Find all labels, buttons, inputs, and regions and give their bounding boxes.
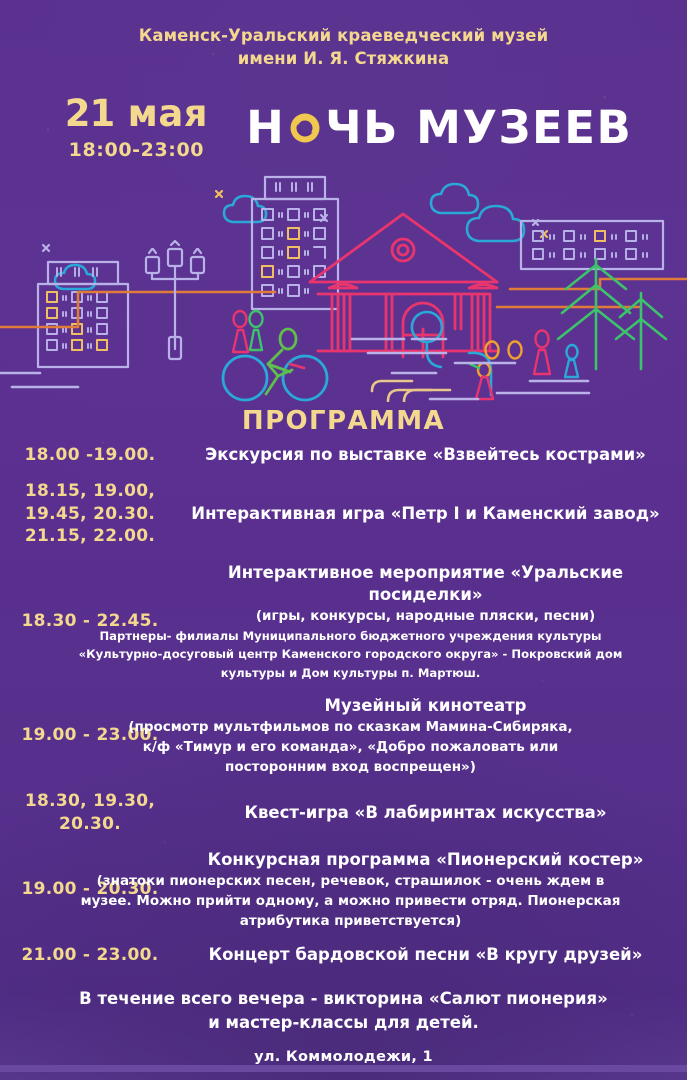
schedule-subtitle: атрибутика приветствуется) <box>24 912 677 931</box>
schedule-description: Интерактивное мероприятие «Уральские пос… <box>174 562 677 682</box>
city-illustration <box>0 167 687 402</box>
schedule-row: 18.15, 19.00, 19.45, 20.30. 21.15, 22.00… <box>0 480 687 547</box>
schedule-fineprint: культуры и Дом культуры п. Мартюш. <box>24 665 677 681</box>
schedule-fineprint: Партнеры- филиалы Муниципального бюджетн… <box>24 628 677 644</box>
schedule-row: 18.00 -19.00. Экскурсия по выставке «Взв… <box>0 444 687 466</box>
people-pair-right <box>534 330 578 377</box>
schedule-fineprint: «Культурно-досуговый центр Каменского го… <box>24 646 677 662</box>
schedule-subtitle: (просмотр мультфильмов по сказкам Мамина… <box>24 718 677 737</box>
schedule-description: Квест-игра «В лабиринтах искусства» <box>174 802 677 824</box>
schedule-description: Интерактивная игра «Петр I и Каменский з… <box>174 503 677 525</box>
schedule-title: Интерактивное мероприятие «Уральские пос… <box>228 563 623 604</box>
venue-address: ул. Коммолодежи, 1 <box>26 1049 661 1065</box>
poster: Каменск-Уральский краеведческий музей им… <box>0 0 687 1080</box>
schedule-title: Музейный кинотеатр <box>325 696 527 715</box>
poster-footer: В течение всего вечера - викторина «Салю… <box>0 987 687 1066</box>
schedule-row: 19.00 - 20.30. Конкурсная программа «Пио… <box>0 849 687 930</box>
schedule-title: Конкурсная программа «Пионерский костер» <box>208 850 644 869</box>
schedule-title: Квест-игра «В лабиринтах искусства» <box>245 803 607 822</box>
schedule-time: 18.00 -19.00. <box>6 444 174 466</box>
event-time-range: 18:00-23:00 <box>65 139 208 161</box>
schedule-time: 21.00 - 23.00. <box>6 944 174 966</box>
footer-line-2: и мастер-классы для детей. <box>26 1011 661 1036</box>
footer-line-1: В течение всего вечера - викторина «Салю… <box>26 987 661 1012</box>
schedule-description: Экскурсия по выставке «Взвейтесь кострам… <box>174 444 677 466</box>
bottom-strip <box>0 1065 687 1072</box>
museum-name: Каменск-Уральский краеведческий музей им… <box>0 0 687 71</box>
tower-building <box>252 177 338 309</box>
schedule-subtitle: посторонним вход воспрещен») <box>24 758 677 777</box>
building-right <box>521 221 663 269</box>
schedule-subtitle: (знатоки пионерских песен, речевок, стра… <box>24 872 677 891</box>
schedule-title: Интерактивная игра «Петр I и Каменский з… <box>191 504 659 523</box>
schedule-subtitle: музее. Можно прийти одному, а можно прив… <box>24 892 677 911</box>
schedule-time: 18.30, 19.30, 20.30. <box>6 790 174 835</box>
schedule-subtitle: (игры, конкурсы, народные пляски, песни) <box>174 607 677 626</box>
crescent-moon-icon <box>288 111 322 145</box>
title-bar: 21 мая 18:00-23:00 Н ЧЬ МУЗЕЕВ <box>0 95 687 161</box>
schedule-description: Музейный кинотеатр (просмотр мультфильмо… <box>174 695 677 776</box>
schedule-row: 19.00 - 23.00. Музейный кинотеатр (просм… <box>0 695 687 776</box>
schedule-description: Концерт бардовской песни «В кругу друзей… <box>174 944 677 966</box>
schedule-subtitle: к/ф «Тимур и его команда», «Добро пожало… <box>24 738 677 757</box>
logo-text-part-1: Н <box>246 105 285 150</box>
people-pair-left <box>233 311 263 352</box>
programme-schedule: 18.00 -19.00. Экскурсия по выставке «Взв… <box>0 444 687 967</box>
schedule-description: Конкурсная программа «Пионерский костер»… <box>174 849 677 930</box>
event-date-month: мая <box>128 92 208 135</box>
schedule-row: 21.00 - 23.00. Концерт бардовской песни … <box>0 944 687 966</box>
museum-name-line-1: Каменск-Уральский краеведческий музей <box>0 24 687 47</box>
apartment-building-left <box>38 262 128 367</box>
date-block: 21 мая 18:00-23:00 <box>65 95 208 161</box>
event-date-number: 21 <box>65 92 115 135</box>
cyclist <box>223 329 327 400</box>
museum-name-line-2: имени И. Я. Стяжкина <box>0 47 687 70</box>
balloon-and-family <box>412 312 522 399</box>
programme-title: ПРОГРАММА <box>0 406 687 436</box>
schedule-time: 18.15, 19.00, 19.45, 20.30. 21.15, 22.00… <box>6 480 174 547</box>
schedule-title: Экскурсия по выставке «Взвейтесь кострам… <box>205 445 646 464</box>
schedule-row: 18.30 - 22.45. Интерактивное мероприятие… <box>0 562 687 682</box>
event-date: 21 мая <box>65 95 208 132</box>
night-of-museums-logo: Н ЧЬ МУЗЕЕВ <box>246 105 632 150</box>
logo-text-part-2: ЧЬ МУЗЕЕВ <box>325 105 632 150</box>
schedule-row: 18.30, 19.30, 20.30. Квест-игра «В лабир… <box>0 790 687 835</box>
schedule-title: Концерт бардовской песни «В кругу друзей… <box>209 945 643 964</box>
street-lamp <box>146 241 204 359</box>
fir-tree-group <box>558 259 666 369</box>
